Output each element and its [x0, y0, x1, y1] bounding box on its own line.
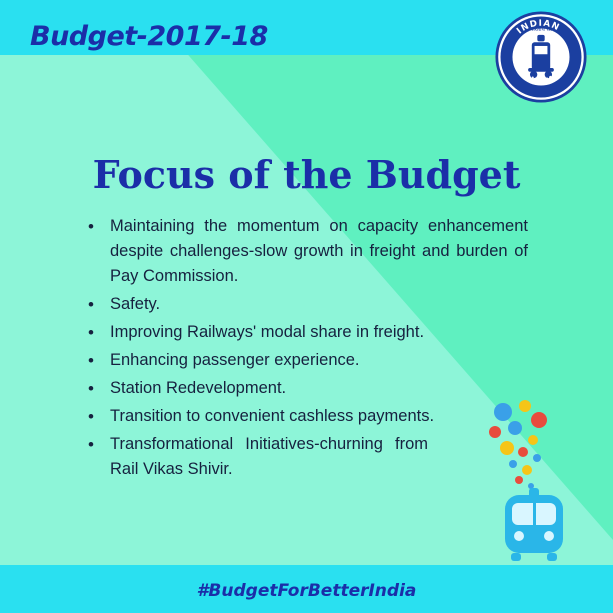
list-item: • Maintaining the momentum on capacity e… [88, 214, 528, 289]
bullet-icon: • [88, 376, 110, 401]
list-item-label: Improving Railways' modal share in freig… [110, 320, 528, 345]
list-item-label: Maintaining the momentum on capacity enh… [110, 214, 528, 289]
logo-hindi-text: भारतीय रेल [529, 26, 552, 33]
bullet-icon: • [88, 214, 110, 239]
bullet-icon: • [88, 348, 110, 373]
bullet-icon: • [88, 404, 110, 429]
list-item-label: Safety. [110, 292, 528, 317]
bullet-list: • Maintaining the momentum on capacity e… [88, 214, 528, 485]
hashtag-label: #BudgetForBetterIndia [0, 581, 613, 601]
bullet-icon: • [88, 320, 110, 345]
page-title: Budget-2017-18 [30, 21, 268, 52]
budget-poster: Budget-2017-18 INDIAN RAILWAYS भारतीय रे… [0, 0, 613, 613]
train-icon [505, 488, 563, 561]
list-item: • Transformational Initiatives-churning … [88, 432, 528, 482]
list-item: • Station Redevelopment. [88, 376, 528, 401]
bullet-icon: • [88, 292, 110, 317]
list-item-label: Transformational Initiatives-churning fr… [110, 432, 428, 482]
list-item: • Enhancing passenger experience. [88, 348, 528, 373]
list-item: • Transition to convenient cashless paym… [88, 404, 528, 429]
list-item-label: Station Redevelopment. [110, 376, 528, 401]
list-item: • Safety. [88, 292, 528, 317]
section-heading: Focus of the Budget [0, 152, 613, 197]
list-item-label: Transition to convenient cashless paymen… [110, 404, 475, 429]
list-item: • Improving Railways' modal share in fre… [88, 320, 528, 345]
indian-railways-logo: INDIAN RAILWAYS भारतीय रेल [495, 11, 587, 103]
list-item-label: Enhancing passenger experience. [110, 348, 528, 373]
bullet-icon: • [88, 432, 110, 457]
